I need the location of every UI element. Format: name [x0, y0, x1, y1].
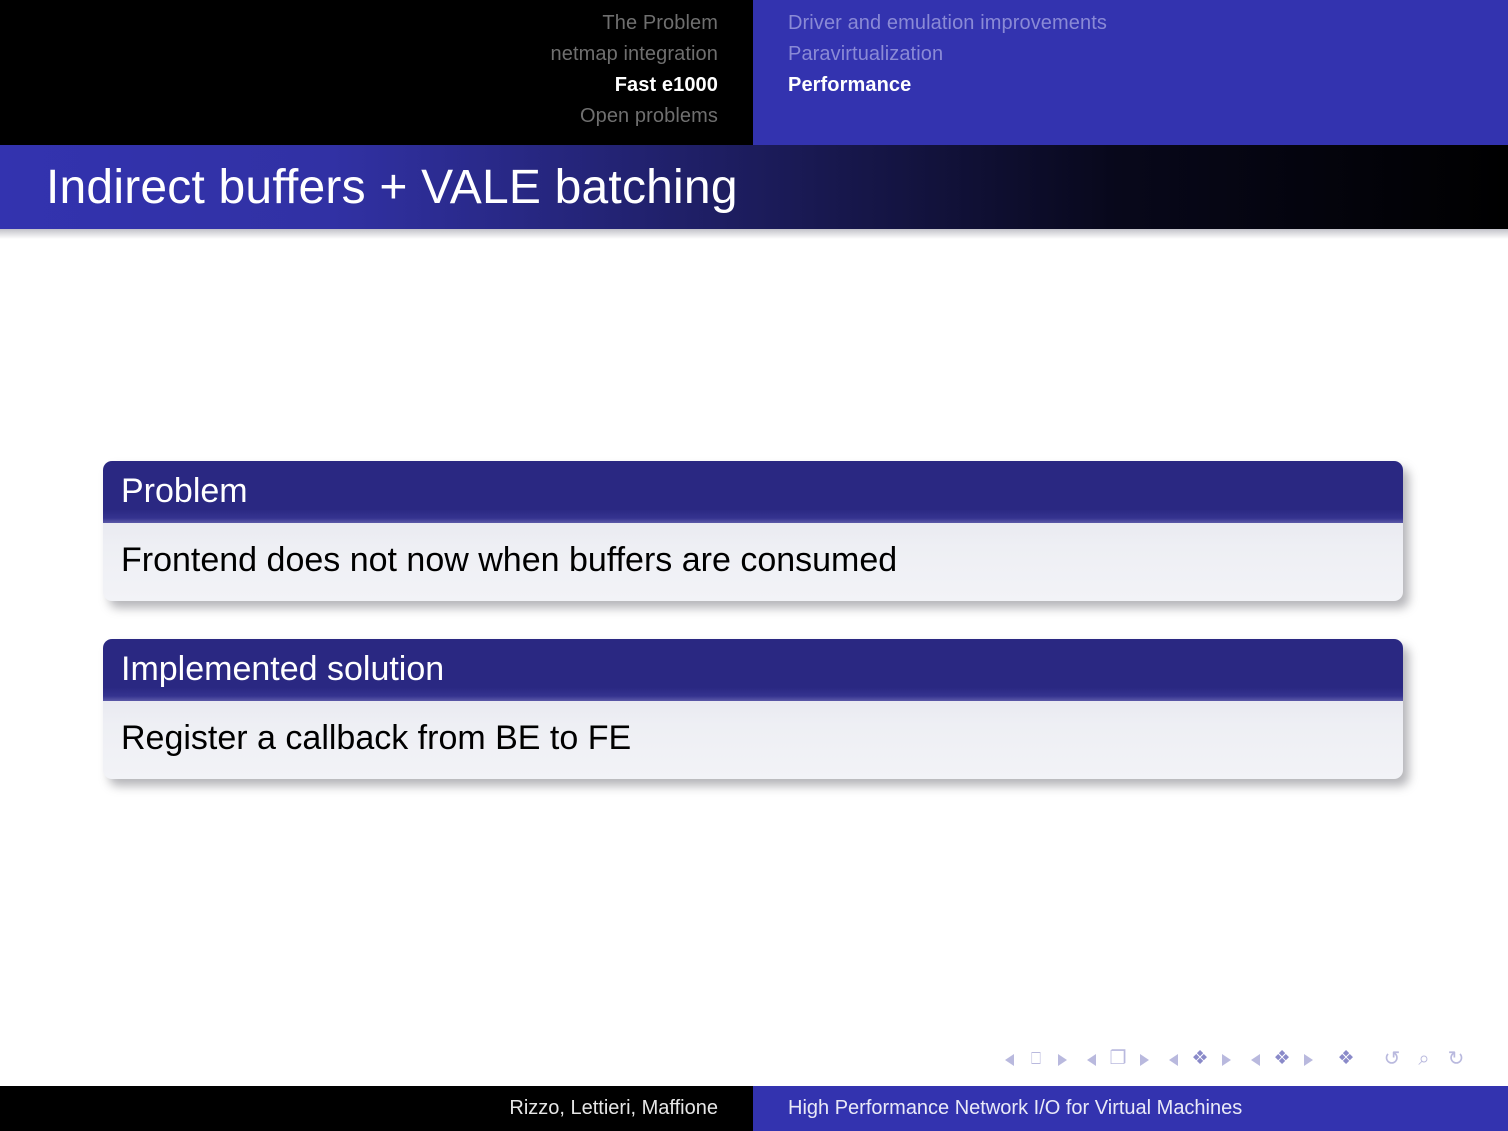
back-icon[interactable]: ↺ — [1376, 1049, 1408, 1069]
prev-slide-icon[interactable] — [1002, 1049, 1020, 1069]
block-implemented-solution-heading: Implemented solution — [103, 639, 1403, 701]
next-frame-icon[interactable] — [1134, 1049, 1152, 1069]
nav-group-section: ❖ — [1248, 1049, 1316, 1069]
footer-right-section: High Performance Network I/O for Virtual… — [753, 1086, 1508, 1131]
next-section-icon[interactable] — [1298, 1049, 1316, 1069]
nav-group-history: ↺ ⌕ ↻ — [1376, 1049, 1472, 1069]
frame-stack-icon[interactable]: ❐ — [1102, 1049, 1134, 1069]
block-implemented-solution: Implemented solution Register a callback… — [103, 639, 1403, 779]
footer-bar: Rizzo, Lettieri, Maffione High Performan… — [0, 1086, 1508, 1131]
next-slide-icon[interactable] — [1052, 1049, 1070, 1069]
prev-subsection-icon[interactable] — [1166, 1049, 1184, 1069]
block-problem: Problem Frontend does not now when buffe… — [103, 461, 1403, 601]
forward-icon[interactable]: ↻ — [1440, 1049, 1472, 1069]
nav-item-the-problem[interactable]: The Problem — [0, 8, 718, 39]
nav-item-netmap-integration[interactable]: netmap integration — [0, 39, 718, 70]
header-navigation-bar: The Problem netmap integration Fast e100… — [0, 0, 1508, 145]
nav-group-presentation: ❖ — [1330, 1049, 1362, 1069]
nav-item-driver-and-emulation-improvements[interactable]: Driver and emulation improvements — [788, 8, 1508, 39]
title-bar-shadow — [0, 229, 1508, 239]
next-subsection-icon[interactable] — [1216, 1049, 1234, 1069]
nav-item-performance[interactable]: Performance — [788, 70, 1508, 101]
slide-icon[interactable]: ⎕ — [1020, 1049, 1052, 1069]
section-icon[interactable]: ❖ — [1266, 1049, 1298, 1069]
prev-frame-icon[interactable] — [1084, 1049, 1102, 1069]
search-icon[interactable]: ⌕ — [1408, 1049, 1440, 1069]
slide-title-bar: Indirect buffers + VALE batching — [0, 145, 1508, 229]
slide-content-area: Problem Frontend does not now when buffe… — [0, 239, 1508, 1039]
header-nav-right-section: Driver and emulation improvements Paravi… — [753, 0, 1508, 145]
prev-section-icon[interactable] — [1248, 1049, 1266, 1069]
block-problem-heading: Problem — [103, 461, 1403, 523]
footer-authors: Rizzo, Lettieri, Maffione — [509, 1097, 718, 1120]
subsection-icon[interactable]: ❖ — [1184, 1049, 1216, 1069]
nav-group-frame: ❐ — [1084, 1049, 1152, 1069]
presentation-icon[interactable]: ❖ — [1330, 1049, 1362, 1069]
page-title: Indirect buffers + VALE batching — [46, 160, 738, 215]
header-nav-left-section: The Problem netmap integration Fast e100… — [0, 0, 753, 145]
beamer-navigation-symbols: ⎕ ❐ ❖ ❖ ❖ ↺ ⌕ ↻ — [1002, 1042, 1486, 1076]
nav-group-slide: ⎕ — [1002, 1049, 1070, 1069]
footer-left-section: Rizzo, Lettieri, Maffione — [0, 1086, 753, 1131]
nav-item-paravirtualization[interactable]: Paravirtualization — [788, 39, 1508, 70]
block-implemented-solution-body: Register a callback from BE to FE — [103, 701, 1403, 779]
footer-talk-title: High Performance Network I/O for Virtual… — [788, 1097, 1242, 1120]
block-problem-body: Frontend does not now when buffers are c… — [103, 523, 1403, 601]
nav-item-fast-e1000[interactable]: Fast e1000 — [0, 70, 718, 101]
nav-group-subsection: ❖ — [1166, 1049, 1234, 1069]
nav-item-open-problems[interactable]: Open problems — [0, 101, 718, 132]
